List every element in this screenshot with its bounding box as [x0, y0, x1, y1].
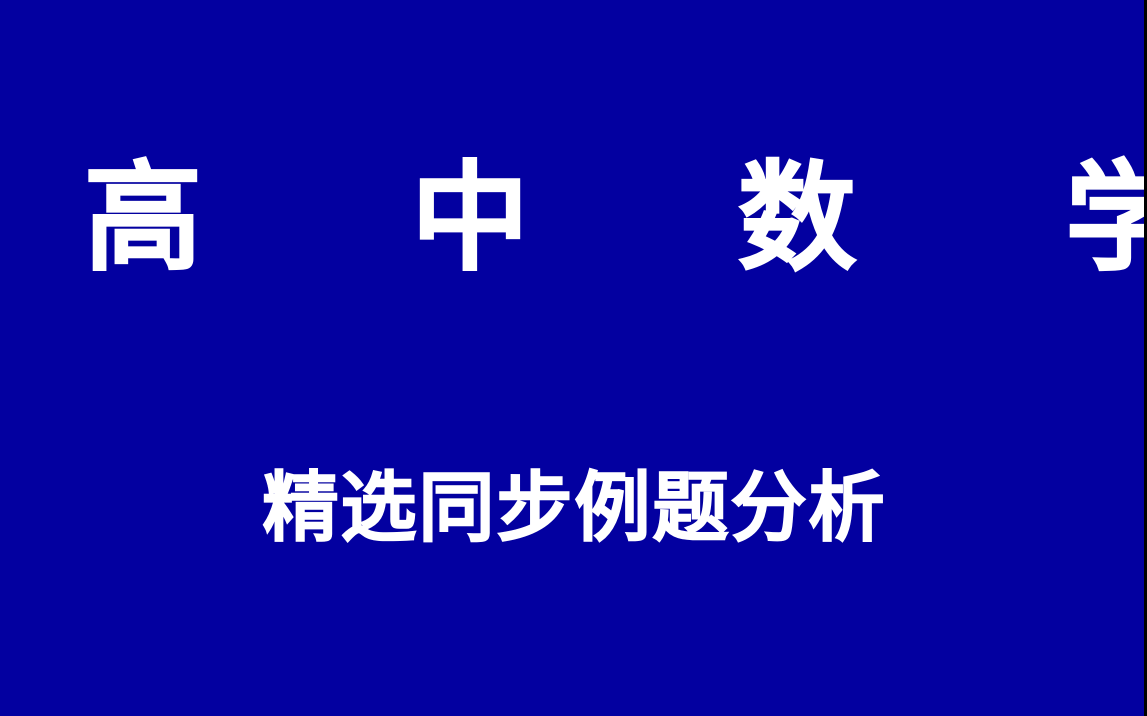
title-slide: 高 中 数 学 精选同步例题分析: [0, 0, 1147, 716]
slide-content: 高 中 数 学 精选同步例题分析: [0, 0, 1147, 716]
slide-title: 高 中 数 学: [0, 148, 1147, 288]
slide-subtitle: 精选同步例题分析: [0, 462, 1147, 554]
